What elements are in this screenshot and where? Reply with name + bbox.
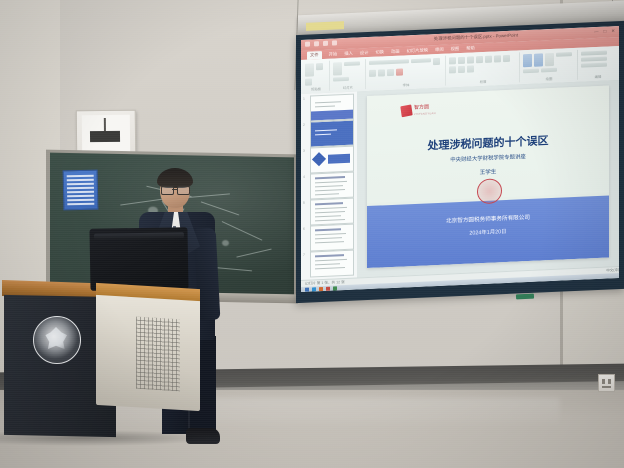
copy-icon[interactable] <box>305 78 312 85</box>
bold-icon[interactable] <box>433 58 440 65</box>
thumbnail-number: 1 <box>303 97 305 101</box>
slide-thumbnail-pane[interactable]: 1 2 3 4 <box>301 91 358 279</box>
slide-thumbnail-3[interactable] <box>310 146 354 174</box>
slide-thumbnail-5[interactable] <box>310 198 354 226</box>
indent-decrease-icon[interactable] <box>467 56 474 63</box>
find-icon[interactable] <box>581 51 607 56</box>
thumbnail-number: 6 <box>303 227 305 231</box>
thumbnail-number: 4 <box>303 175 305 179</box>
numbering-icon[interactable] <box>458 57 465 64</box>
eyeglasses-left-lens-icon <box>161 186 174 195</box>
ribbon-group-slides[interactable]: 幻灯片 <box>331 59 366 91</box>
tab-insert[interactable]: 插入 <box>344 50 353 56</box>
tab-file[interactable]: 文件 <box>307 51 322 60</box>
ribbon-group-label: 编辑 <box>579 73 617 80</box>
replace-icon[interactable] <box>581 57 607 62</box>
select-icon[interactable] <box>581 63 607 68</box>
shape-effects-icon[interactable] <box>541 68 557 73</box>
slide-thumbnail-2[interactable] <box>310 120 354 148</box>
eyeglasses-right-lens-icon <box>177 186 190 195</box>
ribbon-group-drawing[interactable]: 绘图 <box>521 50 578 82</box>
projection-screen-surface: 处理涉税问题的十个误区.pptx - PowerPoint — □ ✕ 文件 开… <box>301 26 619 292</box>
powerpoint-taskbar-icon[interactable] <box>326 286 330 290</box>
tab-review[interactable]: 审阅 <box>435 46 444 52</box>
company-logo: 智方圆 ZHIFANGYUAN <box>401 104 436 117</box>
powerpoint-window[interactable]: 处理涉税问题的十个误区.pptx - PowerPoint — □ ✕ 文件 开… <box>301 26 619 292</box>
underline-icon[interactable] <box>378 69 385 76</box>
blue-notice-board <box>63 170 99 211</box>
slide-editing-stage[interactable]: 智方圆 ZHIFANGYUAN 处理涉税问题的十个误区 中央财经大学财税学院专题… <box>357 80 619 277</box>
current-slide[interactable]: 智方圆 ZHIFANGYUAN 处理涉税问题的十个误区 中央财经大学财税学院专题… <box>367 85 609 268</box>
present-icon[interactable] <box>332 40 337 45</box>
tab-animations[interactable]: 动画 <box>391 48 400 54</box>
tab-help[interactable]: 帮助 <box>466 45 475 51</box>
excel-taskbar-icon[interactable] <box>333 286 337 290</box>
font-name-box[interactable] <box>369 59 409 65</box>
font-size-box[interactable] <box>411 58 431 63</box>
wall-socket-plate <box>598 374 615 392</box>
ribbon-group-clipboard[interactable]: 剪贴板 <box>303 61 330 92</box>
browser-icon[interactable] <box>319 286 323 290</box>
wall-clock-dial <box>90 131 120 142</box>
roller-brand-label <box>306 21 344 31</box>
shape-fill-icon[interactable] <box>556 52 572 57</box>
logo-mark-icon <box>400 105 412 118</box>
eyeglasses-bridge <box>172 189 177 190</box>
align-center-icon[interactable] <box>503 55 510 62</box>
tab-transitions[interactable]: 切换 <box>375 49 384 55</box>
tab-home[interactable]: 开始 <box>329 51 338 57</box>
quick-styles-icon[interactable] <box>545 53 554 66</box>
arrange-icon[interactable] <box>534 53 543 66</box>
slide-thumbnail-4[interactable] <box>310 172 354 200</box>
slide-thumbnail-7[interactable] <box>310 250 354 278</box>
slide-thumbnail-6[interactable] <box>310 224 354 252</box>
close-icon[interactable]: ✕ <box>611 28 615 34</box>
shadow-icon[interactable] <box>387 69 394 76</box>
line-spacing-icon[interactable] <box>485 56 492 63</box>
redo-icon[interactable] <box>323 41 328 46</box>
paste-icon[interactable] <box>305 63 314 76</box>
green-marker-pen <box>516 294 534 300</box>
presenter-hair <box>157 168 193 188</box>
minimize-icon[interactable]: — <box>594 29 599 35</box>
ribbon-group-font[interactable]: 字体 <box>367 56 446 89</box>
thumbnail-number: 3 <box>303 149 305 153</box>
maximize-icon[interactable]: □ <box>604 29 607 35</box>
ribbon-group-label: 剪贴板 <box>303 86 329 92</box>
italic-icon[interactable] <box>369 70 376 77</box>
font-color-icon[interactable] <box>396 68 403 75</box>
tab-view[interactable]: 视图 <box>451 46 460 52</box>
speaker-grille <box>136 317 180 392</box>
logo-subtext: ZHIFANGYUAN <box>414 112 436 116</box>
indent-increase-icon[interactable] <box>476 56 483 63</box>
slide-thumbnail-1[interactable] <box>310 94 354 122</box>
tab-slideshow[interactable]: 幻灯片放映 <box>407 47 428 54</box>
shape-outline-icon[interactable] <box>523 69 539 74</box>
ribbon-group-label: 幻灯片 <box>331 84 365 90</box>
undo-icon[interactable] <box>314 41 319 46</box>
ribbon-group-paragraph[interactable]: 段落 <box>447 52 520 85</box>
columns-icon[interactable] <box>458 66 465 73</box>
reset-icon[interactable] <box>333 77 349 82</box>
ribbon-group-editing[interactable]: 编辑 <box>579 48 617 80</box>
text-direction-icon[interactable] <box>467 65 474 72</box>
start-icon[interactable] <box>305 287 309 291</box>
new-slide-icon[interactable] <box>333 62 342 75</box>
classroom-photo: 处理涉税问题的十个误区.pptx - PowerPoint — □ ✕ 文件 开… <box>0 0 624 468</box>
bullets-icon[interactable] <box>449 57 456 64</box>
thumbnail-number: 5 <box>303 201 305 205</box>
logo-text: 智方圆 <box>414 104 429 111</box>
tab-design[interactable]: 设计 <box>360 50 369 56</box>
window-controls[interactable]: — □ ✕ <box>594 28 615 35</box>
align-right-icon[interactable] <box>449 66 456 73</box>
align-left-icon[interactable] <box>494 55 501 62</box>
thumbnail-number: 7 <box>303 253 305 257</box>
cut-icon[interactable] <box>316 63 323 70</box>
shapes-icon[interactable] <box>523 54 532 67</box>
save-icon[interactable] <box>305 42 310 47</box>
explorer-icon[interactable] <box>312 287 316 291</box>
thumbnail-number: 2 <box>303 123 305 127</box>
layout-icon[interactable] <box>344 61 360 66</box>
